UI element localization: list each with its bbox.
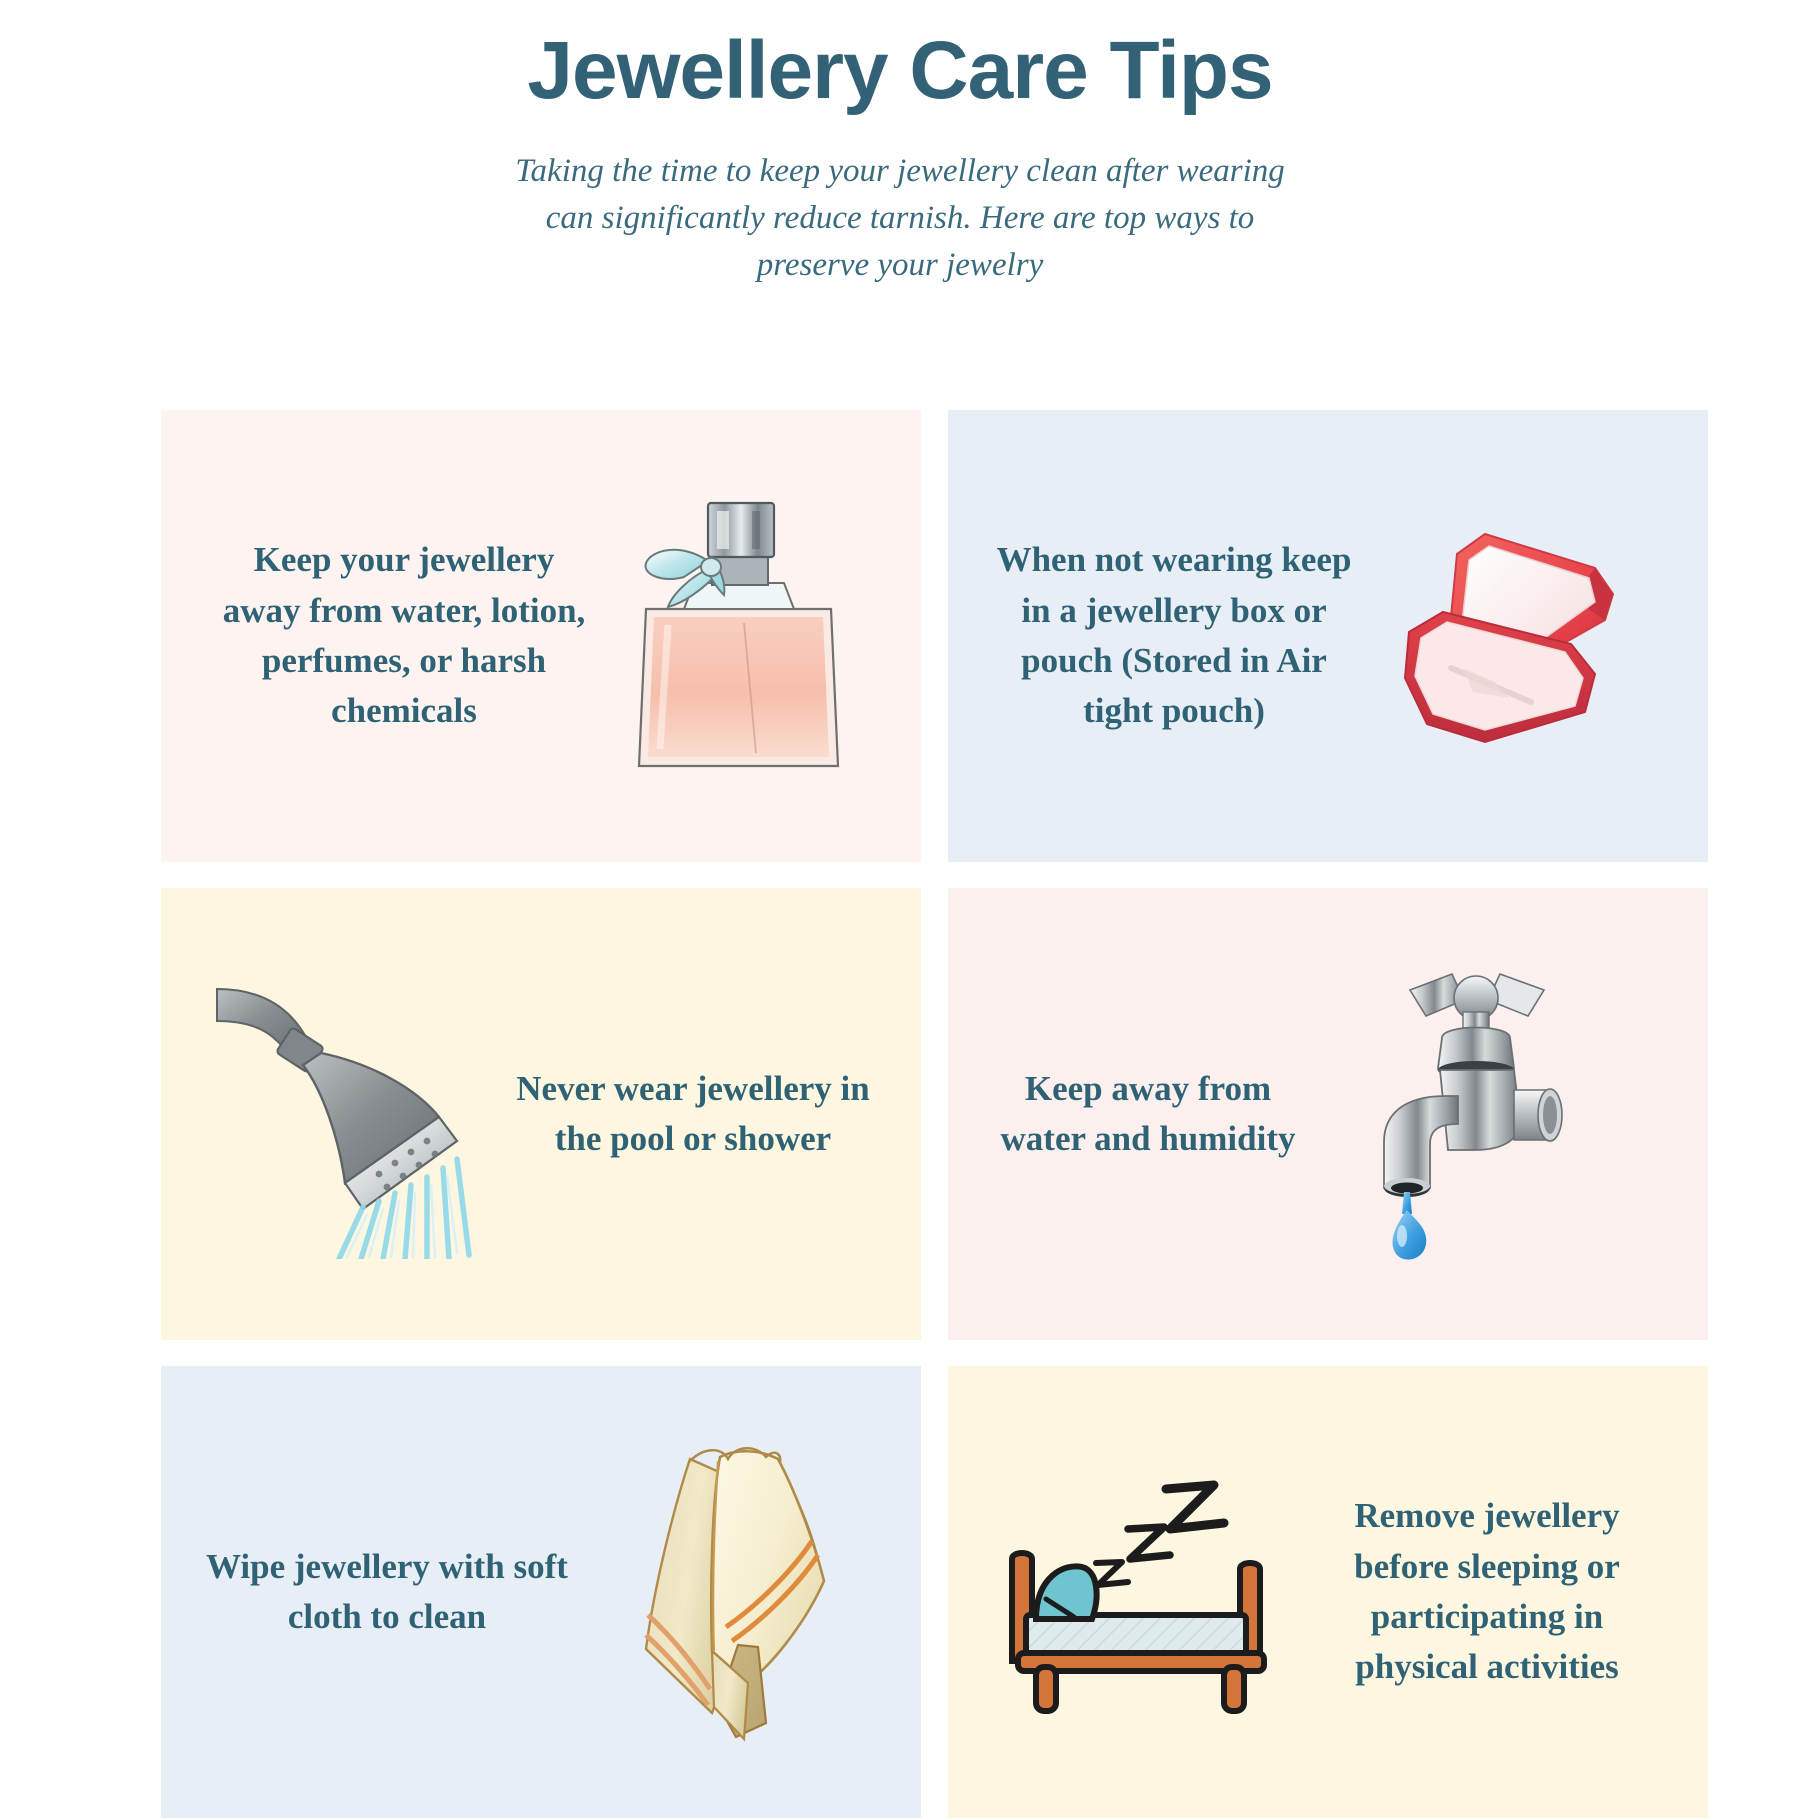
tip-card-2[interactable]: When not wearing keep in a jewellery box…: [948, 410, 1708, 862]
perfume-bottle-icon: [591, 491, 891, 781]
tips-grid: Keep your jewellery away from water, lot…: [161, 410, 1639, 1818]
tip-card-1[interactable]: Keep your jewellery away from water, lot…: [161, 410, 921, 862]
tip-card-5-text: Wipe jewellery with soft cloth to clean: [181, 1542, 581, 1643]
tip-card-5[interactable]: Wipe jewellery with soft cloth to clean: [161, 1366, 921, 1818]
tip-card-6[interactable]: Remove jewellery before sleeping or part…: [948, 1366, 1708, 1818]
tip-card-3[interactable]: Never wear jewellery in the pool or show…: [161, 888, 921, 1340]
tip-card-4[interactable]: Keep away from water and humidity: [948, 888, 1708, 1340]
ring-box-icon: [1359, 516, 1689, 756]
faucet-icon: [1328, 964, 1678, 1264]
cloth-icon: [581, 1437, 901, 1747]
tip-card-3-text: Never wear jewellery in the pool or show…: [516, 1064, 896, 1165]
tip-card-4-text: Keep away from water and humidity: [978, 1064, 1328, 1165]
tip-card-6-text: Remove jewellery before sleeping or part…: [1308, 1491, 1688, 1693]
header: Jewellery Care Tips Taking the time to k…: [0, 0, 1800, 289]
page-subtitle: Taking the time to keep your jewellery c…: [505, 148, 1295, 289]
bed-sleeping-icon: [968, 1467, 1308, 1717]
tip-card-1-text: Keep your jewellery away from water, lot…: [191, 535, 591, 737]
shower-head-icon: [186, 969, 516, 1259]
page-title: Jewellery Care Tips: [0, 28, 1800, 114]
infographic-page: Jewellery Care Tips Taking the time to k…: [0, 0, 1800, 1800]
tip-card-2-text: When not wearing keep in a jewellery box…: [967, 535, 1359, 737]
